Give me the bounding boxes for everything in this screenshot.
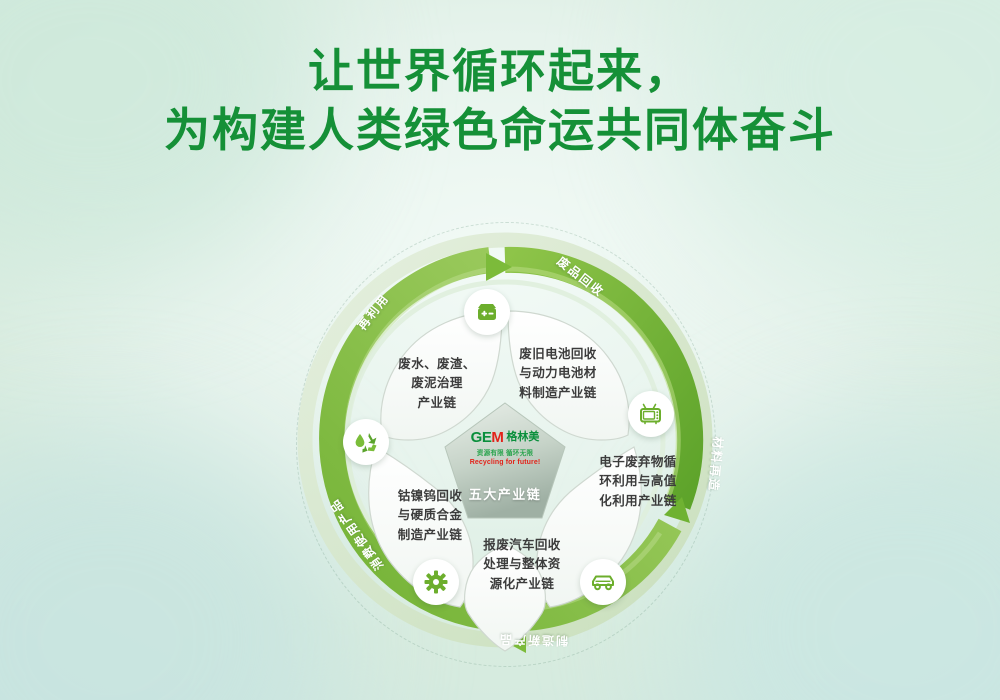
page-title-line-2: 为构建人类绿色命运共同体奋斗 bbox=[0, 101, 1000, 160]
page-title: 让世界循环起来， 为构建人类绿色命运共同体奋斗 bbox=[0, 42, 1000, 160]
gem-logo: GEM 格林美 资源有限 循环无限 Recycling for future! bbox=[455, 430, 555, 466]
gem-slogan-chinese: 资源有限 循环无限 bbox=[455, 447, 555, 457]
tv-icon-bubble[interactable] bbox=[628, 391, 674, 437]
petal-label-e-waste: 电子废弃物循 环利用与高值 化利用产业链 bbox=[583, 453, 693, 511]
center-hub-title: 五大产业链 bbox=[449, 484, 561, 503]
car-icon-bubble[interactable] bbox=[580, 559, 626, 605]
gem-wordmark: GEM bbox=[471, 430, 504, 445]
gem-logo-chinese: 格林美 bbox=[506, 432, 539, 443]
gem-slogan-english: Recycling for future! bbox=[455, 459, 555, 466]
ring-label-product: 制造新产品 bbox=[498, 631, 568, 649]
petal-label-waste-water: 废水、废渣、 废泥治理 产业链 bbox=[378, 355, 496, 413]
background-tint-bottom-left bbox=[0, 430, 340, 700]
tv-icon bbox=[638, 401, 664, 427]
petal-label-scrap-car: 报废汽车回收 处理与整体资 源化产业链 bbox=[466, 536, 578, 594]
center-hub: GEM 格林美 资源有限 循环无限 Recycling for future! … bbox=[449, 418, 561, 530]
gem-wordmark-m: M bbox=[491, 429, 503, 446]
page-title-line-1: 让世界循环起来， bbox=[0, 42, 1000, 101]
car-icon bbox=[590, 569, 616, 595]
gear-icon-bubble[interactable] bbox=[413, 559, 459, 605]
gear-icon bbox=[423, 569, 449, 595]
ring-label-material: 材料再造 bbox=[705, 436, 727, 493]
recycle-drop-icon-bubble[interactable] bbox=[343, 419, 389, 465]
petal-label-battery: 废旧电池回收 与动力电池材 料制造产业链 bbox=[498, 345, 618, 403]
battery-icon bbox=[474, 299, 500, 325]
battery-icon-bubble[interactable] bbox=[464, 289, 510, 335]
recycle-drop-icon bbox=[353, 429, 380, 456]
